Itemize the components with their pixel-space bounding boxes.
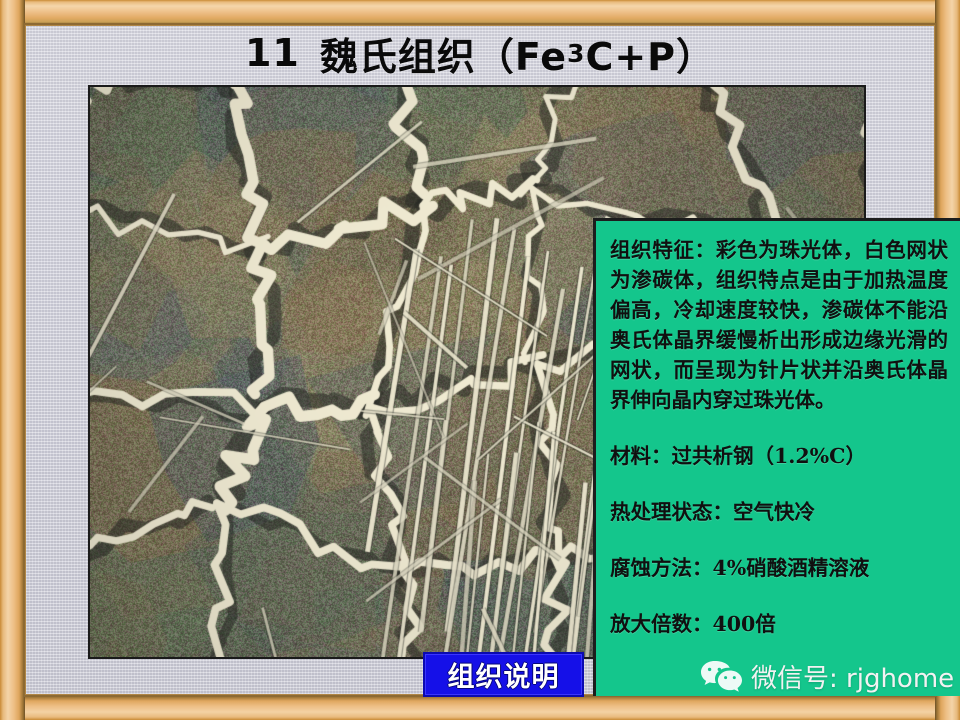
title-number: 11 bbox=[245, 31, 300, 75]
frame-edge-bottom bbox=[0, 695, 960, 720]
page-title: 11 魏氏组织（Fe3C+P） bbox=[26, 24, 934, 82]
title-subscript: 3 bbox=[567, 39, 585, 68]
caption-badge-label: 组织说明 bbox=[448, 655, 560, 694]
info-panel: 组织特征：彩色为珠光体，白色网状为渗碳体，组织特点是由于加热温度偏高，冷却速度较… bbox=[593, 218, 960, 696]
title-main-text: 魏氏组织（Fe bbox=[320, 26, 567, 81]
info-row-magnification: 放大倍数：400倍 bbox=[610, 609, 948, 639]
structure-description: 组织特征：彩色为珠光体，白色网状为渗碳体，组织特点是由于加热温度偏高，冷却速度较… bbox=[610, 235, 948, 415]
info-row-etchant: 腐蚀方法：4%硝酸酒精溶液 bbox=[610, 553, 948, 583]
info-row-heat-treatment: 热处理状态：空气快冷 bbox=[610, 497, 948, 527]
caption-badge: 组织说明 bbox=[423, 652, 584, 697]
frame-edge-left bbox=[0, 0, 25, 720]
frame-edge-top bbox=[0, 0, 960, 25]
info-row-material: 材料：过共析钢（1.2%C） bbox=[610, 441, 948, 471]
title-tail-text: C+P） bbox=[585, 26, 715, 81]
